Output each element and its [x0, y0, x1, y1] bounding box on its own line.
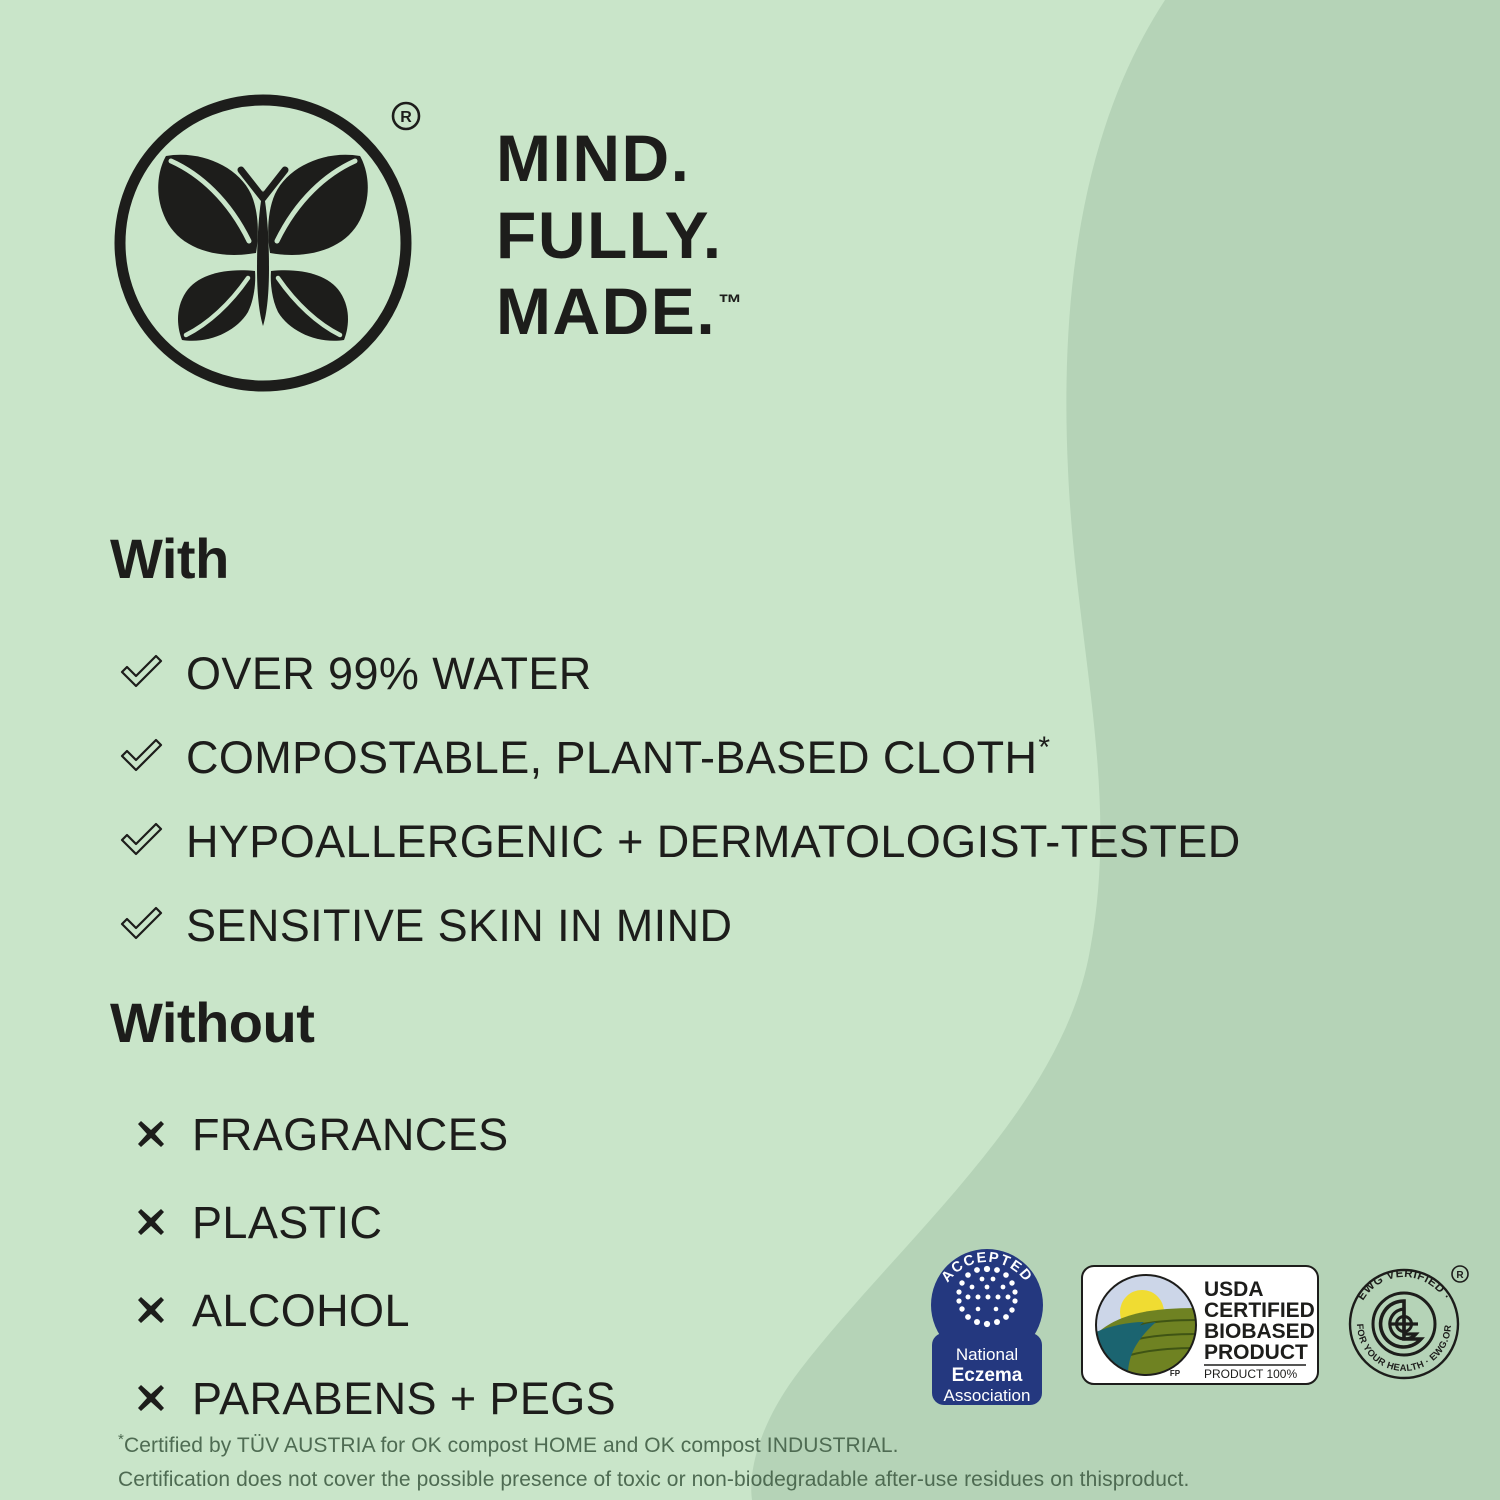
list-item-text: SENSITIVE SKIN IN MIND: [186, 900, 732, 951]
list-item: ALCOHOL: [136, 1266, 616, 1354]
list-item: PLASTIC: [136, 1178, 616, 1266]
cross-icon: [136, 1119, 166, 1149]
wordmark-line-3-text: MADE.: [496, 274, 716, 348]
list-item-label: ALCOHOL: [192, 1288, 410, 1333]
footnote-line-1: *Certified by TÜV AUSTRIA for OK compost…: [118, 1428, 1408, 1463]
trademark-symbol: ™: [718, 290, 742, 317]
ewg-top-arc-text: EWG VERIFIED ·: [1355, 1267, 1452, 1302]
cross-icon: [136, 1295, 166, 1325]
nea-line-3: Association: [944, 1386, 1031, 1405]
list-item-label: PLASTIC: [192, 1200, 382, 1245]
list-item: OVER 99% WATER: [118, 630, 1242, 714]
wordmark-line-3: MADE.™: [496, 273, 742, 350]
check-icon: [118, 733, 164, 779]
usda-line-4: PRODUCT: [1204, 1341, 1308, 1364]
product-claims-infographic: R MIND. FULLY. MADE.™ With OVER 99% WATE…: [0, 0, 1500, 1500]
certification-badges-row: ACCEPTED National Eczema Association: [912, 1240, 1472, 1410]
cross-icon: [136, 1207, 166, 1237]
footnote-asterisk: *: [1038, 731, 1050, 764]
nea-line-1: National: [956, 1345, 1018, 1364]
wordmark-line-1: MIND.: [496, 120, 742, 197]
wordmark-line-2: FULLY.: [496, 197, 742, 274]
list-item-text: HYPOALLERGENIC + DERMATOLOGIST-TESTED: [186, 816, 1241, 867]
footnote-line-2: Certification does not cover the possibl…: [118, 1463, 1408, 1497]
butterfly-in-circle-logo: R: [108, 78, 438, 408]
usda-certified-biobased-product-badge: FP USDA CERTIFIED BIOBASED PRODUCT PRODU…: [1080, 1264, 1320, 1386]
ewg-verified-badge: EWG VERIFIED · · FOR YOUR HEALTH · EWG.O…: [1338, 1258, 1473, 1393]
check-icon: [118, 901, 164, 947]
list-item-label: PARABENS + PEGS: [192, 1376, 616, 1421]
ewg-bottom-arc-text: · FOR YOUR HEALTH · EWG.ORG: [1338, 1258, 1453, 1373]
svg-text:EWG VERIFIED ·: EWG VERIFIED ·: [1355, 1267, 1452, 1302]
with-claims-list: OVER 99% WATER COMPOSTABLE, PLANT-BASED …: [118, 630, 1242, 966]
national-eczema-association-badge: ACCEPTED National Eczema Association: [912, 1241, 1062, 1409]
list-item-label: SENSITIVE SKIN IN MIND: [186, 901, 733, 948]
list-item-label: OVER 99% WATER: [186, 649, 593, 696]
footnote: *Certified by TÜV AUSTRIA for OK compost…: [118, 1428, 1408, 1497]
usda-line-5: PRODUCT 100%: [1204, 1367, 1297, 1381]
usda-corner-mark: FP: [1170, 1369, 1181, 1378]
cross-icon: [136, 1383, 166, 1413]
list-item-label: FRAGRANCES: [192, 1112, 509, 1157]
list-item-label: COMPOSTABLE, PLANT-BASED CLOTH*: [186, 733, 1050, 780]
brand-logo-lockup: R MIND. FULLY. MADE.™: [108, 78, 868, 418]
footnote-line-1-text: Certified by TÜV AUSTRIA for OK compost …: [124, 1434, 899, 1457]
with-section-heading: With: [110, 526, 229, 591]
list-item: COMPOSTABLE, PLANT-BASED CLOTH*: [118, 714, 1242, 798]
usda-line-2: CERTIFIED: [1204, 1299, 1315, 1322]
without-claims-list: FRAGRANCES PLASTIC ALCOHOL: [136, 1090, 616, 1442]
usda-line-1: USDA: [1204, 1278, 1264, 1301]
list-item-text: COMPOSTABLE, PLANT-BASED CLOTH: [186, 732, 1037, 783]
list-item: FRAGRANCES: [136, 1090, 616, 1178]
without-section-heading: Without: [110, 990, 314, 1055]
svg-text:R: R: [400, 109, 412, 126]
check-icon: [118, 817, 164, 863]
check-icon: [118, 649, 164, 695]
wordmark: MIND. FULLY. MADE.™: [496, 120, 742, 350]
nea-line-2: Eczema: [952, 1365, 1023, 1386]
list-item: SENSITIVE SKIN IN MIND: [118, 882, 1242, 966]
list-item: HYPOALLERGENIC + DERMATOLOGIST-TESTED: [118, 798, 1242, 882]
list-item-text: OVER 99% WATER: [186, 648, 592, 699]
svg-text:· FOR YOUR HEALTH · EWG.ORG: · FOR YOUR HEALTH · EWG.ORG: [1338, 1258, 1453, 1373]
usda-line-3: BIOBASED: [1204, 1320, 1315, 1343]
list-item-label: HYPOALLERGENIC + DERMATOLOGIST-TESTED: [186, 817, 1242, 864]
svg-text:R: R: [1456, 1270, 1464, 1281]
